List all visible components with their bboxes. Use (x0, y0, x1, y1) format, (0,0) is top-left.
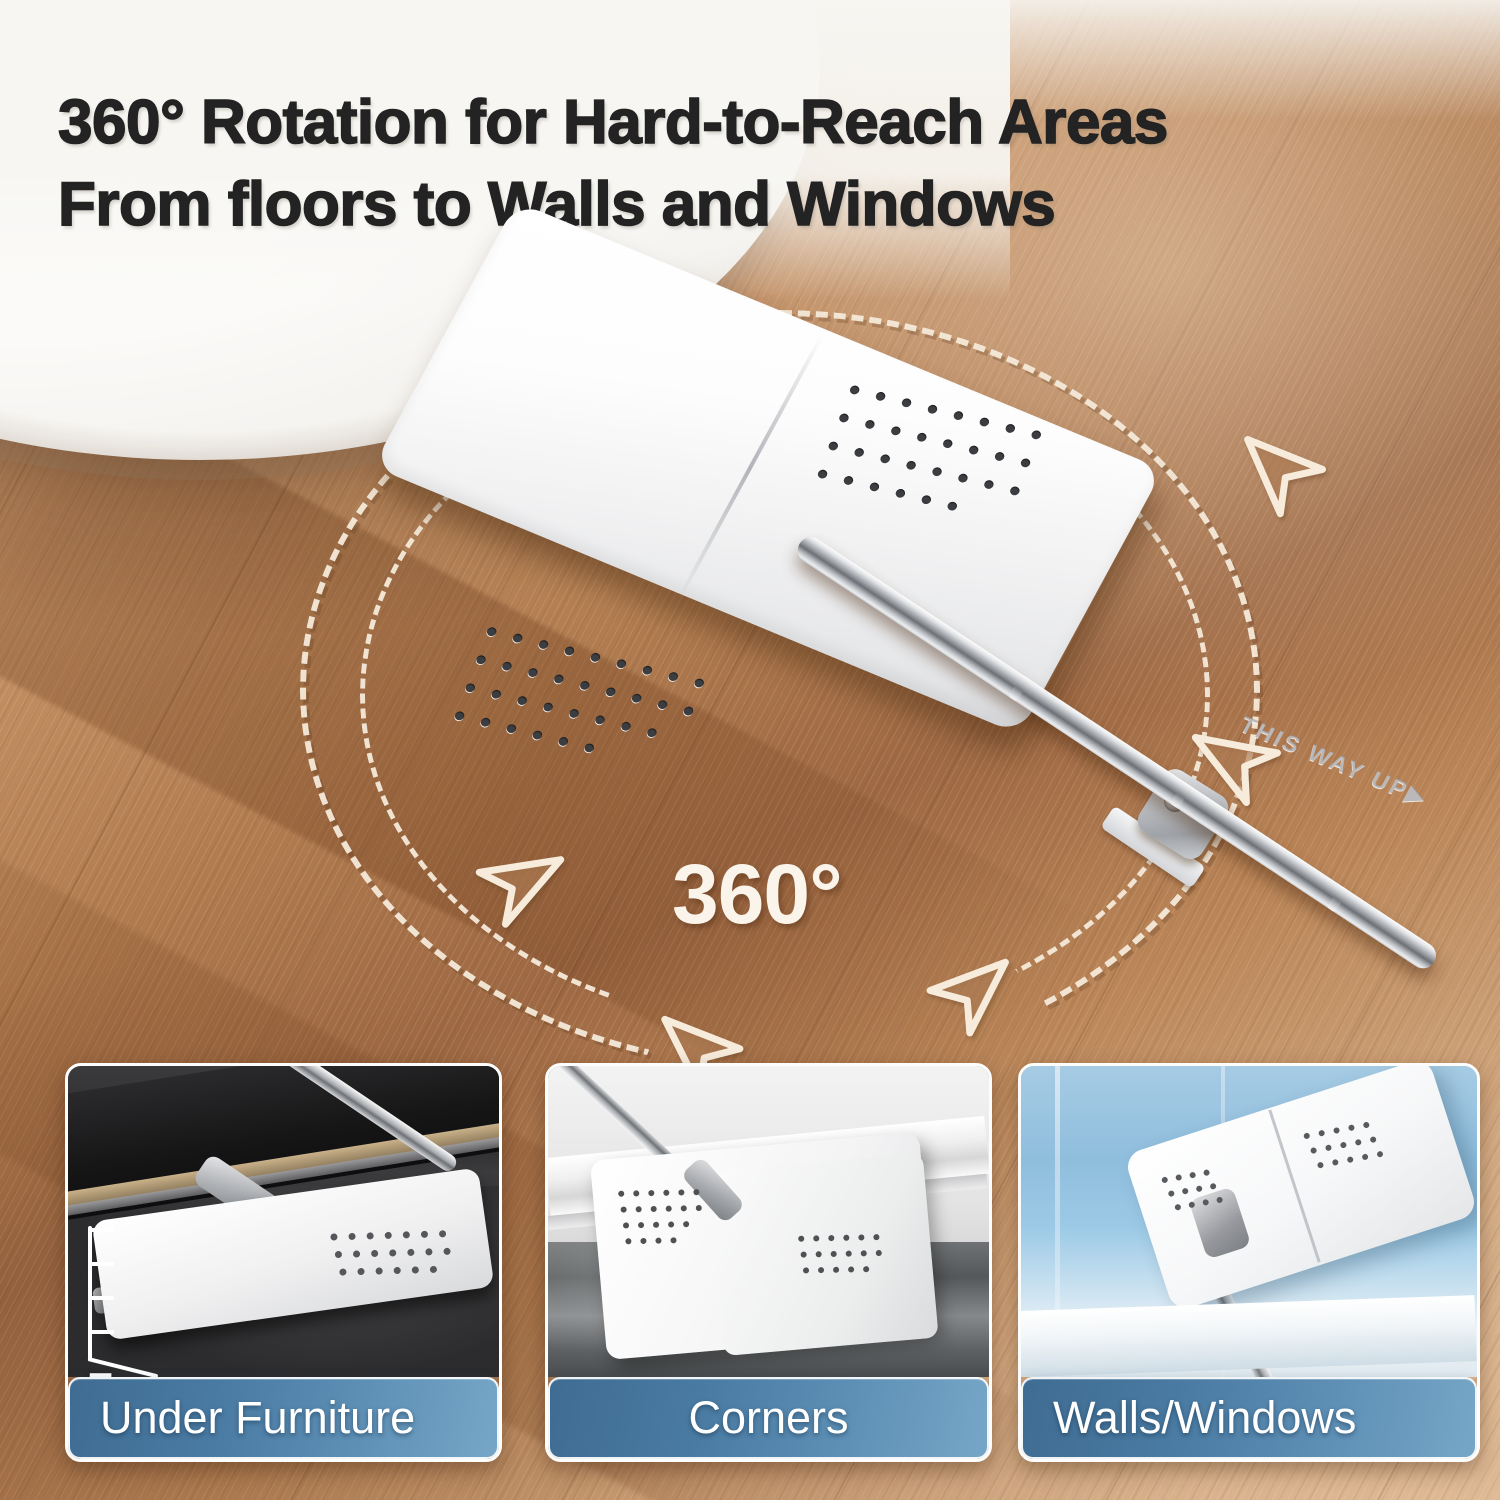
pole-joint-ring-2 (1170, 782, 1193, 809)
panel-3-photo (1021, 1066, 1477, 1377)
caption-label: Corners (688, 1392, 848, 1444)
product-feature-image: 360° Rotation for Hard-to-Reach Areas Fr… (0, 0, 1500, 1500)
headline-line-2: From floors to Walls and Windows (58, 164, 1458, 246)
measurement-label: 5CM (86, 1366, 158, 1377)
mop-head-right-panel-2 (708, 1153, 938, 1356)
scene-walls-windows (1021, 1066, 1477, 1377)
measure-tick (88, 1296, 114, 1300)
mop-head-plate (373, 202, 1164, 735)
use-case-panels: 5CM Under Furniture (0, 1063, 1500, 1463)
panel-1-photo: 5CM (68, 1066, 499, 1377)
measure-bracket (88, 1226, 134, 1361)
pole-joint-ring-1 (1008, 675, 1031, 702)
panel-corners[interactable]: Corners (545, 1063, 992, 1462)
caption-under-furniture: Under Furniture (68, 1377, 499, 1459)
scene-corners (548, 1066, 989, 1377)
page-title: 360° Rotation for Hard-to-Reach Areas Fr… (58, 82, 1458, 246)
measure-tick (88, 1228, 114, 1232)
caption-corners: Corners (548, 1377, 989, 1459)
measure-tick (88, 1330, 114, 1334)
pole-joint-ring-3 (1327, 885, 1350, 912)
mop-head-panel-3 (1123, 1066, 1477, 1312)
window-sill (1021, 1295, 1477, 1377)
panel-under-furniture[interactable]: 5CM Under Furniture (65, 1063, 502, 1462)
rotation-degree-label: 360° (672, 846, 842, 943)
scene-under-furniture: 5CM (68, 1066, 499, 1377)
panel-2-photo (548, 1066, 989, 1377)
caption-label: Walls/Windows (1053, 1392, 1356, 1444)
measure-tick (88, 1262, 114, 1266)
mop-hero: THIS WAY UP▶ (398, 278, 1158, 858)
panel-walls-windows[interactable]: Walls/Windows (1018, 1063, 1480, 1462)
measure-bracket-vertical (88, 1226, 92, 1361)
measure-value: 5 (86, 1363, 115, 1377)
headline-line-1: 360° Rotation for Hard-to-Reach Areas (58, 88, 1168, 157)
caption-walls-windows: Walls/Windows (1021, 1377, 1477, 1459)
caption-label: Under Furniture (100, 1392, 415, 1444)
